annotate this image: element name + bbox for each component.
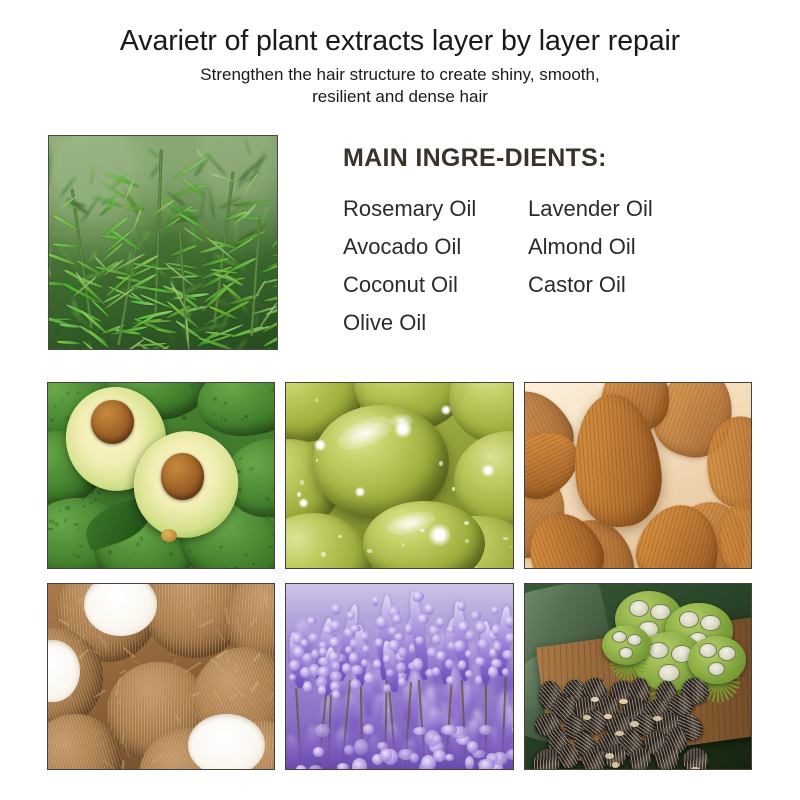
subtitle-line-1: Strengthen the hair structure to create … bbox=[0, 64, 800, 86]
avocado-skin-speckle bbox=[190, 384, 194, 387]
lavender-floret bbox=[505, 615, 514, 628]
avocado-skin-speckle bbox=[271, 389, 275, 391]
castor-pod-cell bbox=[629, 600, 649, 617]
lavender-floret-foreground bbox=[441, 725, 456, 735]
olive-droplet bbox=[367, 549, 372, 553]
coconut-husk-fiber bbox=[191, 610, 193, 617]
lavender-floret bbox=[436, 651, 446, 661]
lavender-floret bbox=[318, 657, 330, 666]
castor-pod-cell bbox=[612, 631, 627, 643]
avocado-skin-speckle bbox=[77, 527, 81, 530]
castor-pod-cell bbox=[718, 646, 736, 660]
lavender-floret bbox=[432, 634, 440, 645]
rosemary-needle-blur bbox=[255, 313, 258, 336]
avocado-skin-speckle bbox=[67, 392, 70, 395]
lavender-floret-foreground bbox=[354, 739, 368, 755]
lavender-floret bbox=[350, 638, 357, 649]
lavender-floret bbox=[446, 676, 455, 685]
avocado-skin-speckle bbox=[50, 419, 54, 422]
avocado-skin-speckle bbox=[272, 534, 275, 537]
olive-droplet bbox=[503, 537, 508, 540]
lavender-floret bbox=[350, 679, 361, 690]
lavender-floret bbox=[349, 652, 358, 664]
castor-seed-caruncle bbox=[591, 697, 599, 702]
castor-artwork bbox=[525, 584, 751, 769]
castor-seed-caruncle bbox=[691, 767, 700, 770]
avocado-skin-speckle bbox=[55, 522, 59, 527]
lavender-floret bbox=[376, 616, 388, 628]
almond-photo bbox=[524, 382, 752, 569]
ingredient-item: Olive Oil bbox=[343, 304, 528, 342]
avocado-skin-speckle bbox=[74, 523, 79, 526]
olive-photo bbox=[285, 382, 513, 569]
ingredient-item: Almond Oil bbox=[528, 228, 653, 266]
lavender-floret bbox=[505, 633, 513, 644]
rosemary-needle-blur bbox=[149, 349, 169, 350]
avocado-skin-speckle bbox=[140, 536, 143, 541]
avocado-skin-speckle bbox=[91, 491, 94, 495]
avocado-pit bbox=[91, 400, 134, 444]
lavender-floret bbox=[349, 625, 361, 633]
avocado-skin-speckle bbox=[83, 505, 86, 508]
ingredient-item: Lavender Oil bbox=[528, 190, 653, 228]
castor-pod-cell bbox=[700, 615, 720, 632]
lavender-floret bbox=[398, 647, 407, 658]
avocado-skin-speckle bbox=[72, 553, 75, 556]
castor-seed-caruncle bbox=[605, 753, 614, 759]
lavender-floret bbox=[342, 663, 352, 674]
castor-photo bbox=[524, 583, 752, 770]
lavender-floret bbox=[289, 660, 300, 671]
coconut-husk-fiber bbox=[121, 760, 124, 770]
coconut-shell bbox=[47, 708, 126, 770]
lavender-floret bbox=[330, 671, 341, 682]
header: Avarietr of plant extracts layer by laye… bbox=[0, 24, 800, 107]
lavender-floret bbox=[475, 621, 486, 634]
lavender-floret bbox=[417, 614, 429, 624]
page-title: Avarietr of plant extracts layer by laye… bbox=[0, 24, 800, 58]
lavender-floret bbox=[502, 650, 513, 659]
olive-droplet bbox=[321, 552, 326, 557]
olive-droplet bbox=[402, 543, 404, 546]
olive-water-sparkle bbox=[481, 464, 495, 476]
lavender-floret bbox=[318, 685, 325, 696]
olive-droplet bbox=[300, 480, 303, 485]
lavender-floret bbox=[373, 659, 381, 670]
lavender-floret bbox=[383, 684, 391, 693]
olive-water-sparkle bbox=[354, 487, 365, 497]
olive-artwork bbox=[286, 383, 512, 568]
avocado-skin-speckle bbox=[100, 499, 102, 504]
lavender-floret bbox=[331, 603, 341, 615]
lavender-floret-foreground bbox=[313, 747, 323, 757]
ingredient-photo-grid bbox=[47, 382, 752, 770]
avocado-skin-speckle bbox=[76, 554, 80, 558]
castor-pod-cell bbox=[699, 643, 717, 657]
avocado-skin-speckle bbox=[238, 488, 242, 490]
lavender-floret bbox=[445, 659, 454, 669]
avocado-photo bbox=[47, 382, 275, 569]
avocado-skin-speckle bbox=[93, 498, 98, 502]
lavender-floret-foreground bbox=[337, 763, 349, 770]
ingredient-item: Castor Oil bbox=[528, 266, 653, 304]
lavender-floret bbox=[458, 660, 466, 669]
olive-droplet bbox=[475, 567, 477, 569]
castor-seed-caruncle bbox=[612, 762, 619, 767]
avocado-skin-speckle bbox=[108, 550, 112, 555]
avocado-skin-speckle bbox=[49, 519, 52, 522]
lavender-floret bbox=[398, 677, 406, 688]
castor-seed bbox=[558, 744, 579, 768]
avocado-skin-speckle bbox=[225, 566, 228, 569]
avocado-skin-speckle bbox=[98, 567, 100, 569]
ingredient-item: Rosemary Oil bbox=[343, 190, 528, 228]
olive-water-sparkle bbox=[440, 405, 451, 415]
olive-water-sparkle bbox=[427, 524, 452, 546]
lavender-floret-foreground bbox=[421, 755, 436, 770]
castor-pod-cell bbox=[679, 611, 699, 628]
lavender-floret bbox=[332, 690, 340, 699]
ingredient-item: Avocado Oil bbox=[343, 228, 528, 266]
avocado-skin-speckle bbox=[87, 491, 90, 493]
avocado-skin-speckle bbox=[224, 418, 227, 422]
olive-water-sparkle bbox=[313, 439, 327, 451]
subtitle-line-2: resilient and dense hair bbox=[0, 86, 800, 108]
lavender-floret bbox=[475, 657, 485, 666]
lavender-floret-foreground bbox=[363, 724, 374, 734]
avocado-skin-speckle bbox=[221, 416, 224, 419]
ingredients-columns: Rosemary Oil Avocado Oil Coconut Oil Oli… bbox=[343, 190, 743, 342]
lavender-floret-foreground bbox=[432, 735, 441, 743]
ingredient-item: Coconut Oil bbox=[343, 266, 528, 304]
lavender-floret bbox=[383, 654, 391, 664]
olive-droplet bbox=[439, 461, 443, 466]
avocado-artwork bbox=[48, 383, 274, 568]
lavender-floret bbox=[300, 667, 311, 678]
lavender-floret bbox=[492, 624, 500, 636]
olive-droplet bbox=[487, 455, 490, 457]
avocado-skin-speckle bbox=[244, 415, 248, 417]
lavender-floret bbox=[502, 668, 509, 676]
almond-artwork bbox=[525, 383, 751, 568]
avocado-skin-speckle bbox=[79, 545, 83, 548]
lavender-floret bbox=[386, 669, 395, 677]
lavender-floret bbox=[457, 601, 466, 612]
lavender-floret bbox=[396, 662, 406, 673]
avocado-skin-speckle bbox=[213, 397, 217, 400]
avocado-skin-speckle bbox=[271, 487, 275, 490]
castor-pod-cell bbox=[619, 647, 634, 659]
lavender-floret bbox=[412, 658, 423, 671]
coconut-husk-fiber bbox=[234, 663, 237, 673]
lavender-floret bbox=[465, 670, 473, 677]
avocado-skin-speckle bbox=[249, 467, 254, 471]
infographic-page: Avarietr of plant extracts layer by laye… bbox=[0, 0, 800, 800]
avocado-stem-nub bbox=[161, 529, 177, 542]
avocado-skin-speckle bbox=[65, 506, 70, 510]
lavender-floret bbox=[477, 639, 488, 650]
ingredients-column-2: Lavender Oil Almond Oil Castor Oil bbox=[528, 190, 653, 342]
lavender-floret bbox=[491, 659, 502, 668]
avocado-pit bbox=[161, 453, 204, 499]
lavender-artwork bbox=[286, 584, 512, 769]
lavender-floret-foreground bbox=[478, 759, 495, 770]
castor-seed-caruncle bbox=[619, 699, 628, 704]
ingredients-heading: MAIN INGRE-DIENTS: bbox=[343, 143, 743, 173]
coconut-flesh bbox=[188, 714, 265, 771]
coconut-artwork bbox=[48, 584, 274, 769]
rosemary-photo bbox=[48, 135, 278, 350]
avocado-skin-speckle bbox=[136, 542, 139, 547]
castor-pod-cell bbox=[658, 664, 680, 682]
lavender-floret bbox=[424, 603, 434, 615]
coconut-photo bbox=[47, 583, 275, 770]
avocado-skin-speckle bbox=[269, 546, 273, 548]
castor-seed-caruncle bbox=[604, 714, 612, 719]
lavender-photo bbox=[285, 583, 513, 770]
lavender-floret-foreground bbox=[308, 765, 323, 770]
olive-droplet bbox=[510, 546, 512, 548]
avocado-skin-speckle bbox=[241, 418, 244, 421]
avocado-skin-speckle bbox=[234, 566, 239, 569]
avocado-skin-speckle bbox=[81, 497, 83, 501]
avocado-skin-speckle bbox=[81, 491, 85, 494]
lavender-floret bbox=[470, 611, 480, 620]
page-subtitle: Strengthen the hair structure to create … bbox=[0, 64, 800, 107]
lavender-floret-foreground bbox=[344, 745, 355, 755]
avocado-skin-speckle bbox=[89, 501, 93, 504]
avocado-skin-speckle bbox=[97, 491, 101, 495]
ingredients-column-1: Rosemary Oil Avocado Oil Coconut Oil Oli… bbox=[343, 190, 528, 342]
ingredients-block: MAIN INGRE-DIENTS: Rosemary Oil Avocado … bbox=[343, 143, 743, 342]
avocado-skin-speckle bbox=[188, 549, 191, 553]
